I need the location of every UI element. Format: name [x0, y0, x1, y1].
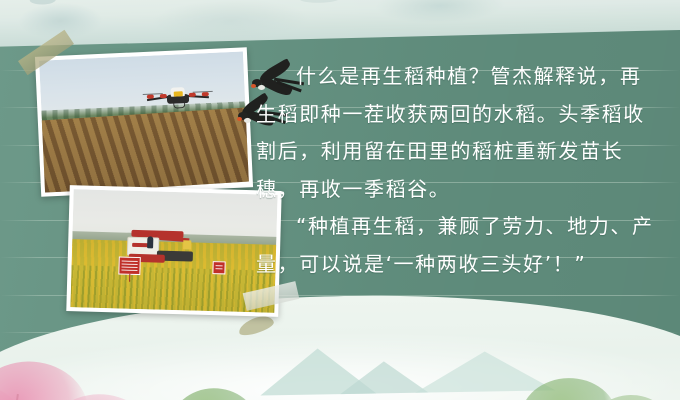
blossom-tree — [0, 360, 90, 400]
mountain-shape — [415, 350, 556, 392]
plowed-field — [39, 107, 249, 193]
article-paragraph-2: “种植再生稻，兼顾了劳力、地力、产量，可以说是‘一种两收三头好’！” — [256, 208, 662, 283]
article-paragraph-1: 什么是再生稻种植？管杰解释说，再生稻即种一茬收获两回的水稻。头季稻收割后，利用留… — [256, 58, 662, 208]
red-signboard — [118, 257, 140, 276]
photo-drone-over-plowed-field[interactable] — [35, 47, 253, 196]
drone-icon — [147, 87, 210, 110]
red-signboard — [212, 262, 225, 275]
slide-canvas: 什么是再生稻种植？管杰解释说，再生稻即种一茬收获两回的水稻。头季稻收割后，利用留… — [0, 0, 680, 400]
article-text: 什么是再生稻种植？管杰解释说，再生稻即种一茬收获两回的水稻。头季稻收割后，利用留… — [256, 58, 662, 283]
tree-shape — [170, 388, 257, 400]
photo-image — [39, 51, 249, 192]
